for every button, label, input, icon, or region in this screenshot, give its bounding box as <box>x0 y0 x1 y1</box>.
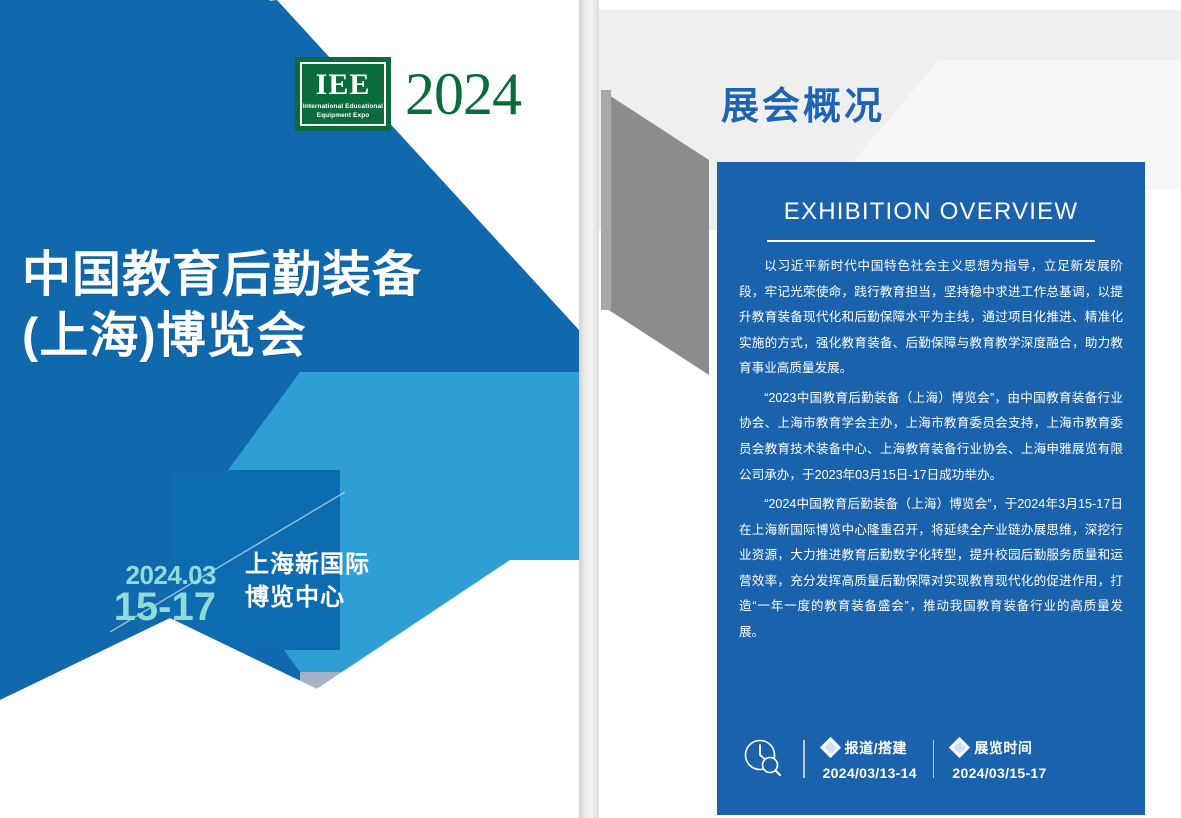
schedule-date-setup: 2024/03/13-14 <box>823 765 917 781</box>
schedule-date-exhibition: 2024/03/15-17 <box>952 765 1046 781</box>
right-page: 展会概况 EXHIBITION OVERVIEW 以习近平新时代中国特色社会主义… <box>599 0 1181 818</box>
overview-title-rule <box>767 240 1095 242</box>
iee-logo-letters: IEE <box>316 70 371 100</box>
venue-line2: 博览中心 <box>245 581 370 614</box>
section-heading: 展会概况 <box>721 75 885 130</box>
diamond-icon <box>949 737 970 758</box>
page-gutter <box>579 0 599 818</box>
page-title-line2: (上海)博览会 <box>22 306 492 367</box>
page-title-line1: 中国教育后勤装备 <box>22 248 422 302</box>
overview-paragraph-3: “2024中国教育后勤装备（上海）博览会”，于2024年3月15-17日在上海新… <box>739 492 1123 645</box>
overview-body: 以习近平新时代中国特色社会主义思想为指导，立足新发展阶段，牢记光荣使命，践行教育… <box>739 254 1123 649</box>
schedule-item-exhibition: 展览时间 2024/03/15-17 <box>952 738 1046 781</box>
overview-panel: EXHIBITION OVERVIEW 以习近平新时代中国特色社会主义思想为指导… <box>717 162 1145 815</box>
schedule-label-exhibition: 展览时间 <box>974 738 1032 758</box>
event-date-days: 15-17 <box>113 587 216 628</box>
iee-subtitle-line1: International Educational <box>303 103 383 111</box>
schedule-footer: 报道/搭建 2024/03/13-14 展览时间 2024/03/15-17 <box>729 731 1133 787</box>
iee-subtitle-line2: Equipment Expo <box>303 112 383 120</box>
schedule-item-setup: 报道/搭建 2024/03/13-14 <box>823 738 917 781</box>
diamond-icon <box>819 737 840 758</box>
footer-divider-2 <box>933 740 935 778</box>
page-title: 中国教育后勤装备 (上海)博览会 <box>22 245 492 368</box>
iee-logo-subtitle: International Educational Equipment Expo <box>303 103 383 119</box>
logo-row: IEE International Educational Equipment … <box>295 57 521 131</box>
overview-title: EXHIBITION OVERVIEW <box>717 198 1145 226</box>
venue-name: 上海新国际 博览中心 <box>245 548 370 614</box>
overview-paragraph-2: “2023中国教育后勤装备（上海）博览会”，由中国教育装备行业协会、上海市教育学… <box>739 386 1123 488</box>
schedule-label-setup: 报道/搭建 <box>845 738 907 758</box>
iee-logo: IEE International Educational Equipment … <box>295 57 391 131</box>
year-label: 2024 <box>405 64 521 124</box>
left-page: IEE International Educational Equipment … <box>0 0 579 818</box>
venue-line1: 上海新国际 <box>245 548 370 581</box>
gray-parallelogram-edge <box>601 90 611 310</box>
clock-search-icon <box>741 737 787 781</box>
overview-paragraph-1: 以习近平新时代中国特色社会主义思想为指导，立足新发展阶段，牢记光荣使命，践行教育… <box>739 254 1123 382</box>
brochure-spread: IEE International Educational Equipment … <box>0 0 1181 818</box>
iee-logo-frame: IEE International Educational Equipment … <box>300 62 386 126</box>
footer-divider-1 <box>803 740 805 778</box>
event-date: 2024.03 15-17 <box>113 562 216 628</box>
